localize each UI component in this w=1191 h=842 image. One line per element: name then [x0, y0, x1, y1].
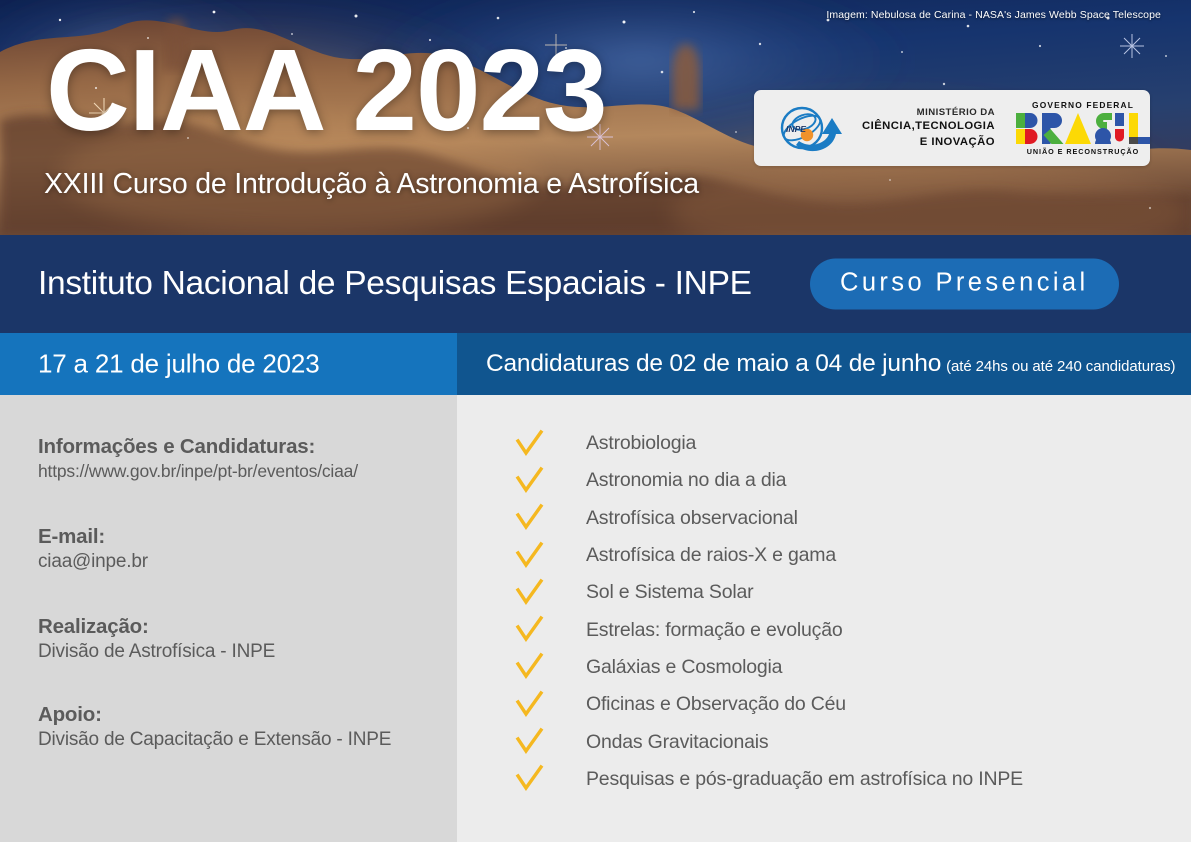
logo-card: INPE MINISTÉRIO DA CIÊNCIA,TECNOLOGIA E … [754, 90, 1150, 166]
image-credit: Imagem: Nebulosa de Carina - NASA's Jame… [826, 9, 1161, 21]
check-icon [514, 503, 558, 533]
check-icon [514, 764, 558, 794]
ministry-line-1: MINISTÉRIO DA [862, 106, 995, 119]
topic-item: Astronomia no dia a dia [514, 462, 1174, 499]
topic-item: Ondas Gravitacionais [514, 723, 1174, 760]
email-value[interactable]: ciaa@inpe.br [38, 551, 148, 573]
realization-value: Divisão de Astrofísica - INPE [38, 641, 275, 663]
application-period-text: Candidaturas de 02 de maio a 04 de junho [486, 350, 941, 377]
page-title: CIAA 2023 [46, 32, 607, 148]
institute-name: Instituto Nacional de Pesquisas Espaciai… [38, 265, 752, 303]
email-heading: E-mail: [38, 525, 148, 549]
topic-label: Astrofísica de raios-X e gama [586, 544, 836, 567]
svg-text:INPE: INPE [786, 124, 806, 134]
realization-heading: Realização: [38, 615, 275, 639]
government-logo: GOVERNO FEDERAL [1015, 100, 1151, 156]
email-group: E-mail: ciaa@inpe.br [38, 525, 148, 573]
poster-root: Imagem: Nebulosa de Carina - NASA's Jame… [0, 0, 1191, 842]
application-period-note: (até 24hs ou até 240 candidaturas) [946, 358, 1175, 375]
gov-federal-label: GOVERNO FEDERAL [1015, 100, 1151, 110]
topic-label: Astrofísica observacional [586, 507, 798, 530]
course-dates-text: 17 a 21 de julho de 2023 [38, 349, 319, 380]
topic-item: Estrelas: formação e evolução [514, 611, 1174, 648]
topic-item: Astrofísica de raios-X e gama [514, 537, 1174, 574]
course-dates-block: 17 a 21 de julho de 2023 [0, 333, 457, 395]
check-icon [514, 727, 558, 757]
info-group: Informações e Candidaturas: https://www.… [38, 435, 358, 482]
topic-label: Astronomia no dia a dia [586, 469, 786, 492]
topic-label: Ondas Gravitacionais [586, 731, 768, 754]
topic-label: Galáxias e Cosmologia [586, 656, 782, 679]
topic-item: Pesquisas e pós-graduação em astrofísica… [514, 761, 1174, 798]
topic-item: Sol e Sistema Solar [514, 574, 1174, 611]
topic-label: Oficinas e Observação do Céu [586, 693, 846, 716]
topic-item: Oficinas e Observação do Céu [514, 686, 1174, 723]
topic-item: Astrobiologia [514, 425, 1174, 462]
check-icon [514, 429, 558, 459]
check-icon [514, 615, 558, 645]
info-heading: Informações e Candidaturas: [38, 435, 358, 459]
support-value: Divisão de Capacitação e Extensão - INPE [38, 729, 391, 751]
topic-label: Sol e Sistema Solar [586, 581, 753, 604]
hero-banner: Imagem: Nebulosa de Carina - NASA's Jame… [0, 0, 1191, 235]
topic-label: Estrelas: formação e evolução [586, 619, 843, 642]
info-url[interactable]: https://www.gov.br/inpe/pt-br/eventos/ci… [38, 461, 358, 482]
support-heading: Apoio: [38, 703, 391, 727]
ministry-wordmark: MINISTÉRIO DA CIÊNCIA,TECNOLOGIA E INOVA… [862, 106, 995, 150]
institute-bar: Instituto Nacional de Pesquisas Espaciai… [0, 235, 1191, 333]
application-period-block: Candidaturas de 02 de maio a 04 de junho… [457, 333, 1191, 395]
support-group: Apoio: Divisão de Capacitação e Extensão… [38, 703, 391, 751]
check-icon [514, 578, 558, 608]
course-format-badge: Curso Presencial [810, 259, 1119, 310]
realization-group: Realização: Divisão de Astrofísica - INP… [38, 615, 275, 663]
ministry-line-2: CIÊNCIA,TECNOLOGIA [862, 119, 995, 135]
check-icon [514, 466, 558, 496]
ministry-line-3: E INOVAÇÃO [862, 135, 995, 151]
topic-list: AstrobiologiaAstronomia no dia a diaAstr… [514, 425, 1174, 798]
brasil-wordmark-icon [1015, 112, 1151, 145]
check-icon [514, 690, 558, 720]
topic-item: Galáxias e Cosmologia [514, 649, 1174, 686]
date-bar: 17 a 21 de julho de 2023 Candidaturas de… [0, 333, 1191, 395]
topics-panel: AstrobiologiaAstronomia no dia a diaAstr… [457, 395, 1191, 842]
check-icon [514, 652, 558, 682]
topic-label: Pesquisas e pós-graduação em astrofísica… [586, 768, 1023, 791]
inpe-logo-icon: INPE [772, 98, 850, 158]
topic-item: Astrofísica observacional [514, 500, 1174, 537]
info-sidebar: Informações e Candidaturas: https://www.… [0, 395, 457, 842]
gov-tagline: UNIÃO E RECONSTRUÇÃO [1015, 147, 1151, 156]
check-icon [514, 541, 558, 571]
topic-label: Astrobiologia [586, 432, 696, 455]
page-subtitle: XXIII Curso de Introdução à Astronomia e… [44, 168, 699, 201]
